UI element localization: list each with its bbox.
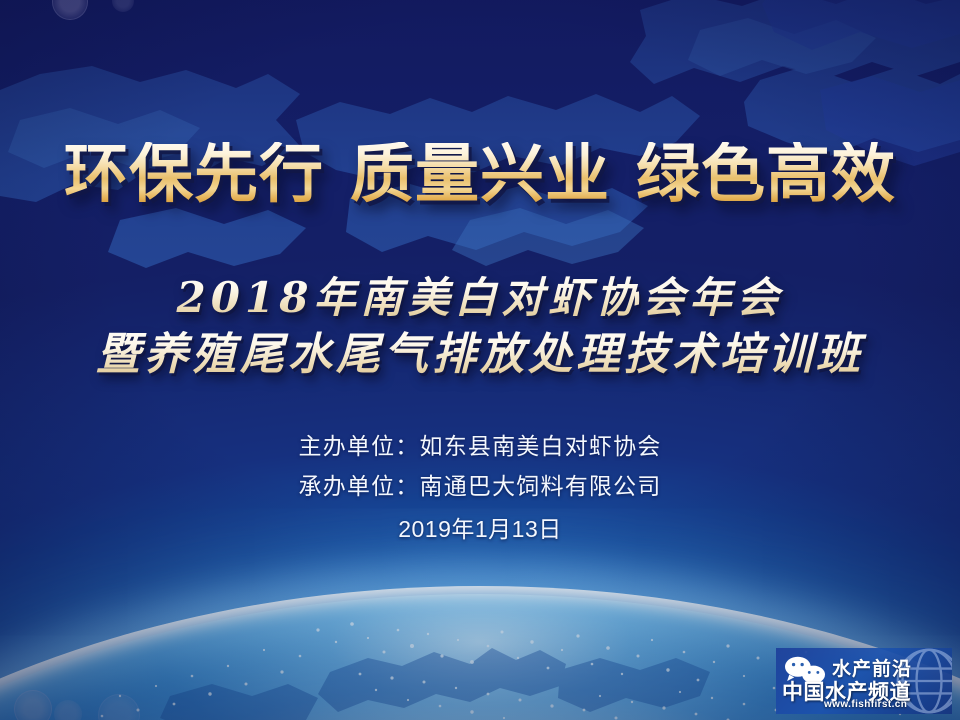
watermark-url: www.fishfirst.cn (824, 699, 907, 710)
conference-poster: 环保先行质量兴业绿色高效 2018年南美白对虾协会年会 暨养殖尾水尾气排放处理技… (0, 0, 960, 720)
headline: 环保先行质量兴业绿色高效 (0, 142, 960, 207)
coorganizer-organization: 承办单位：南通巴大饲料有限公司 (0, 467, 960, 501)
subtitle-line-2: 暨养殖尾水尾气排放处理技术培训班 (0, 318, 960, 382)
headline-part-2: 质量兴业 (350, 138, 610, 210)
event-date: 2019年1月13日 (0, 510, 960, 544)
channel-watermark: 水产前沿 中国水产频道 www.fishfirst.cn (776, 648, 952, 714)
host-organization: 主办单位：如东县南美白对虾协会 (0, 427, 960, 461)
poster-content: 环保先行质量兴业绿色高效 2018年南美白对虾协会年会 暨养殖尾水尾气排放处理技… (0, 0, 960, 720)
subtitle-line-1: 2018年南美白对虾协会年会 (0, 264, 960, 325)
headline-part-3: 绿色高效 (636, 138, 896, 210)
headline-part-1: 环保先行 (64, 138, 324, 210)
